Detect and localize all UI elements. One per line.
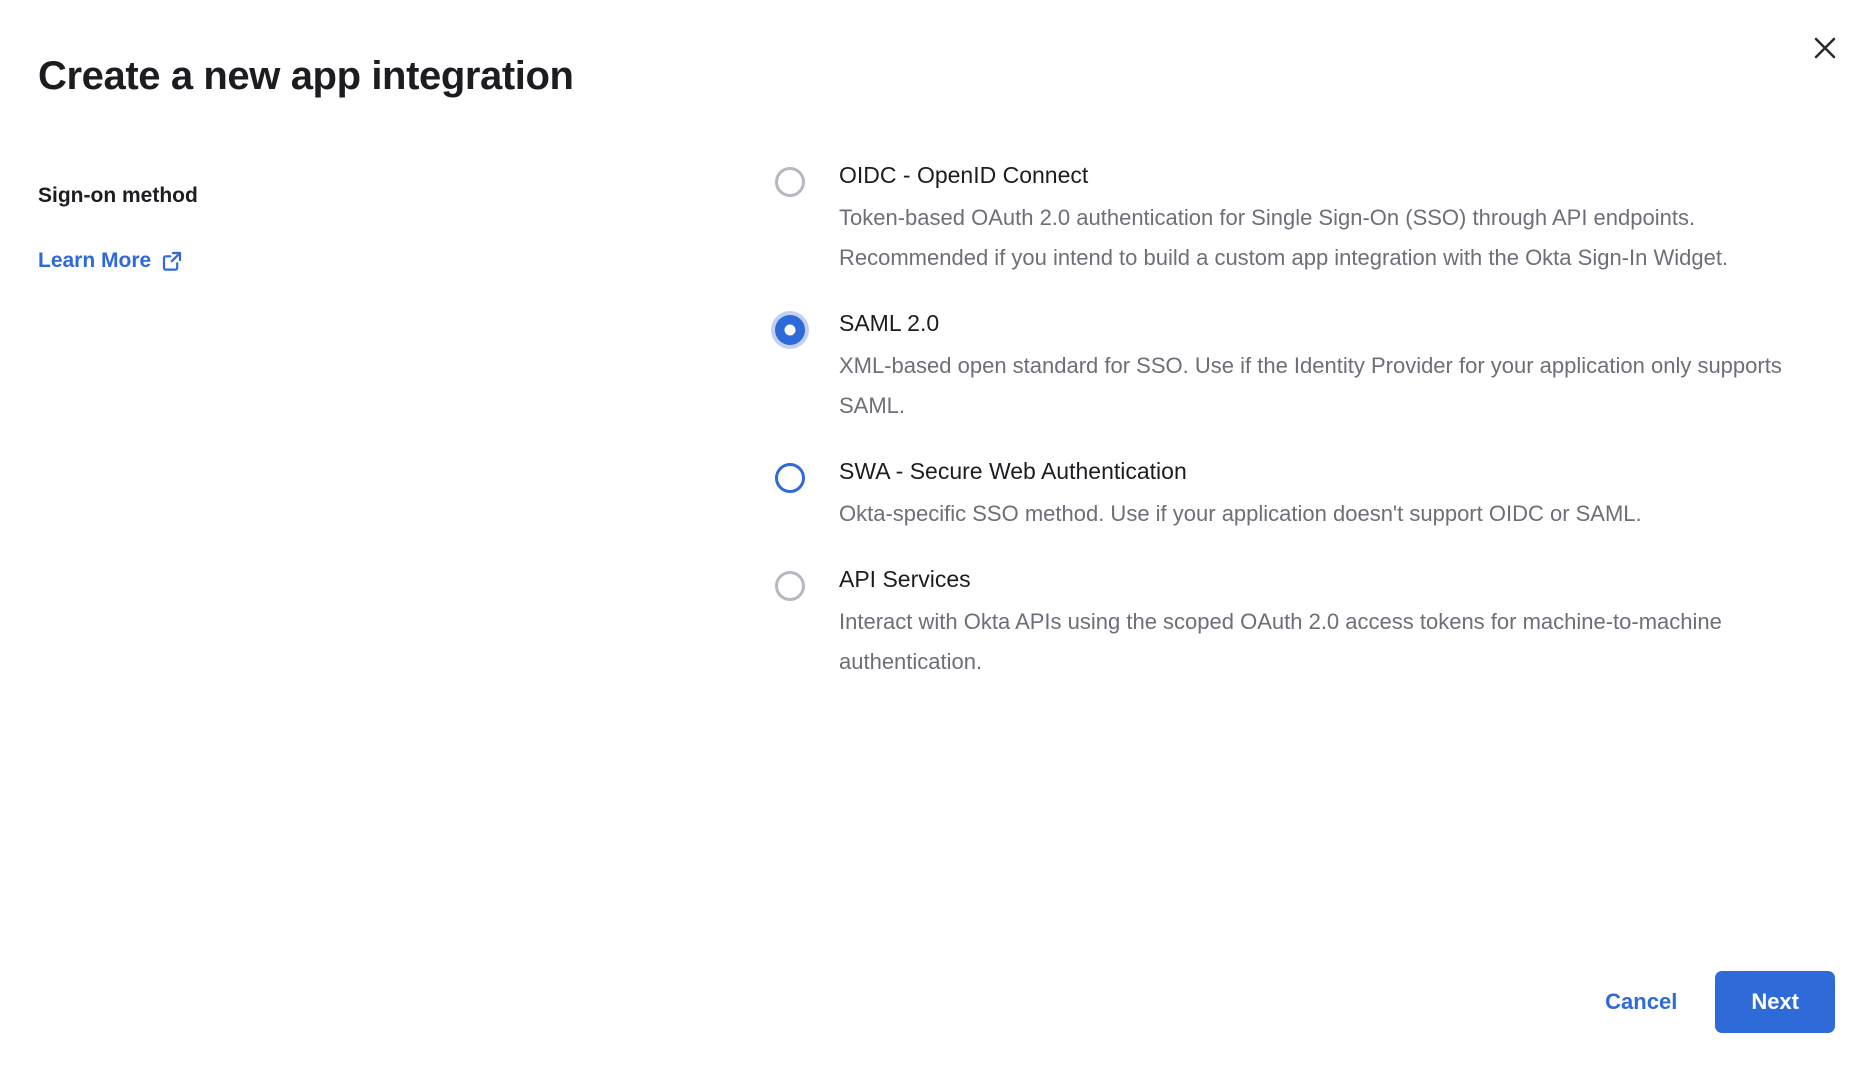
radio-option-label: SAML 2.0 [839, 308, 1835, 338]
create-app-integration-dialog: Create a new app integration Sign-on met… [0, 0, 1873, 1075]
sign-on-method-label: Sign-on method [38, 182, 598, 210]
next-button[interactable]: Next [1715, 971, 1835, 1033]
close-icon [1811, 34, 1839, 62]
page-title: Create a new app integration [38, 52, 574, 100]
radio-option-label: SWA - Secure Web Authentication [839, 456, 1835, 486]
radio-option-saml[interactable]: SAML 2.0 XML-based open standard for SSO… [775, 308, 1835, 426]
radio-saml[interactable] [775, 315, 805, 345]
sign-on-method-column: Sign-on method Learn More [38, 182, 598, 275]
radio-option-label: API Services [839, 564, 1835, 594]
radio-option-label: OIDC - OpenID Connect [839, 160, 1835, 190]
radio-option-api-services[interactable]: API Services Interact with Okta APIs usi… [775, 564, 1835, 682]
radio-swa[interactable] [775, 463, 805, 493]
radio-option-description: Okta-specific SSO method. Use if your ap… [839, 494, 1835, 534]
radio-option-description: XML-based open standard for SSO. Use if … [839, 346, 1835, 426]
radio-option-description: Interact with Okta APIs using the scoped… [839, 602, 1835, 682]
radio-option-oidc[interactable]: OIDC - OpenID Connect Token-based OAuth … [775, 160, 1835, 278]
sign-on-method-radio-group: OIDC - OpenID Connect Token-based OAuth … [775, 160, 1835, 682]
radio-oidc[interactable] [775, 167, 805, 197]
radio-option-swa[interactable]: SWA - Secure Web Authentication Okta-spe… [775, 456, 1835, 534]
external-link-icon [161, 250, 183, 272]
learn-more-label: Learn More [38, 247, 151, 275]
radio-option-description: Token-based OAuth 2.0 authentication for… [839, 198, 1835, 278]
learn-more-link[interactable]: Learn More [38, 247, 183, 275]
close-icon-button[interactable] [1799, 22, 1851, 74]
cancel-button[interactable]: Cancel [1601, 979, 1681, 1025]
dialog-footer: Cancel Next [1601, 971, 1835, 1033]
radio-api-services[interactable] [775, 571, 805, 601]
